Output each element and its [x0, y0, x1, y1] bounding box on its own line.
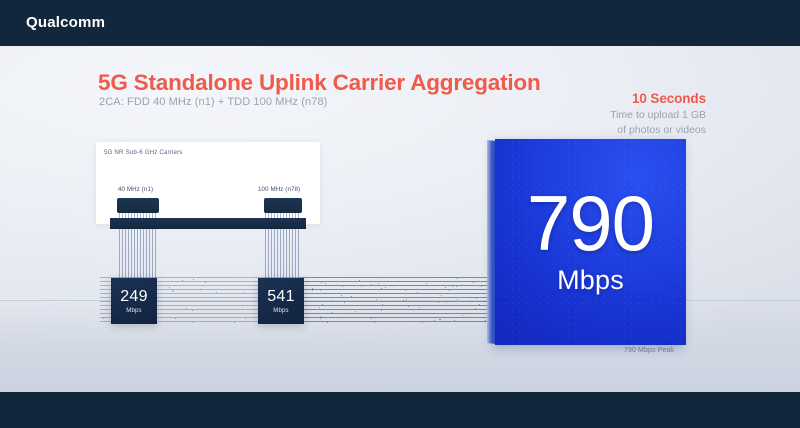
data-speck	[200, 289, 201, 290]
data-speck	[234, 322, 235, 323]
callout-line-2: of photos or videos	[610, 123, 706, 138]
page-title: 5G Standalone Uplink Carrier Aggregation	[98, 70, 541, 96]
data-speck	[242, 305, 243, 306]
data-speck	[457, 278, 458, 279]
data-speck	[321, 282, 322, 283]
data-speck	[378, 283, 379, 284]
data-speck	[103, 318, 104, 319]
data-speck	[319, 307, 320, 308]
data-speck	[186, 308, 187, 309]
carrier-block-n1	[117, 198, 159, 213]
data-speck	[205, 282, 206, 283]
data-speck	[359, 280, 360, 281]
data-speck	[331, 312, 332, 313]
footer-bar	[0, 392, 800, 428]
data-speck	[172, 290, 173, 291]
data-speck	[445, 287, 446, 288]
data-speck	[385, 287, 386, 288]
data-speck	[449, 290, 450, 291]
result-panel: 790 Mbps	[495, 139, 686, 345]
speed-badge-n1: 249 Mbps	[111, 278, 157, 324]
page-subtitle: 2CA: FDD 40 MHz (n1) + TDD 100 MHz (n78)	[99, 96, 327, 108]
carrier-label-n78: 100 MHz (n78)	[258, 186, 300, 193]
data-speck	[182, 280, 183, 281]
data-speck	[456, 286, 457, 287]
speed-badge-n1-unit: Mbps	[126, 308, 141, 314]
carrier-label-n1: 40 MHz (n1)	[118, 186, 153, 193]
data-speck	[342, 286, 343, 287]
data-speck	[322, 304, 323, 305]
data-speck	[454, 320, 455, 321]
data-speck	[169, 287, 170, 288]
data-speck	[307, 281, 308, 282]
data-speck	[371, 318, 372, 319]
speed-badge-n1-value: 249	[120, 289, 148, 305]
result-value: 790	[527, 188, 654, 260]
data-speck	[466, 313, 467, 314]
qualcomm-logo: Qualcomm	[26, 14, 105, 31]
data-speck	[479, 304, 480, 305]
carrier-panel-label: 5G NR Sub-6 GHz Carriers	[104, 149, 183, 156]
data-speck	[325, 283, 326, 284]
data-speck	[312, 288, 313, 289]
header-bar: Qualcomm	[0, 0, 800, 46]
data-speck	[419, 307, 420, 308]
data-speck	[327, 322, 328, 323]
data-speck	[175, 318, 176, 319]
data-speck	[417, 292, 418, 293]
data-speck	[452, 286, 453, 287]
data-speck	[192, 310, 193, 311]
data-speck	[216, 292, 217, 293]
result-panel-content: 790 Mbps	[495, 139, 686, 345]
data-speck	[406, 299, 407, 300]
slide-root: Qualcomm 5G Standalone Uplink Carrier Ag…	[0, 0, 800, 428]
data-speck	[476, 298, 477, 299]
data-speck	[371, 284, 372, 285]
data-speck	[446, 302, 447, 303]
data-speck	[245, 318, 246, 319]
data-speck	[439, 319, 440, 320]
speed-badge-n78-value: 541	[267, 289, 295, 305]
data-speck	[193, 279, 194, 280]
data-speck	[244, 292, 245, 293]
data-speck	[193, 322, 194, 323]
aggregation-bar	[110, 218, 306, 229]
result-unit: Mbps	[557, 265, 624, 296]
callout-headline: 10 Seconds	[610, 91, 706, 108]
callout-line-1: Time to upload 1 GB	[610, 108, 706, 123]
data-speck	[325, 293, 326, 294]
data-speck	[403, 300, 404, 301]
data-speck	[351, 296, 352, 297]
data-speck	[405, 290, 406, 291]
data-speck	[332, 301, 333, 302]
result-caption: 790 Mbps Peak	[624, 347, 674, 354]
speed-badge-n78-unit: Mbps	[273, 308, 288, 314]
speed-badge-n78: 541 Mbps	[258, 278, 304, 324]
upload-time-callout: 10 Seconds Time to upload 1 GB of photos…	[610, 91, 706, 138]
carrier-block-n78	[264, 198, 302, 213]
data-speck	[307, 313, 308, 314]
data-speck	[429, 289, 430, 290]
data-speck	[473, 282, 474, 283]
data-speck	[475, 308, 476, 309]
